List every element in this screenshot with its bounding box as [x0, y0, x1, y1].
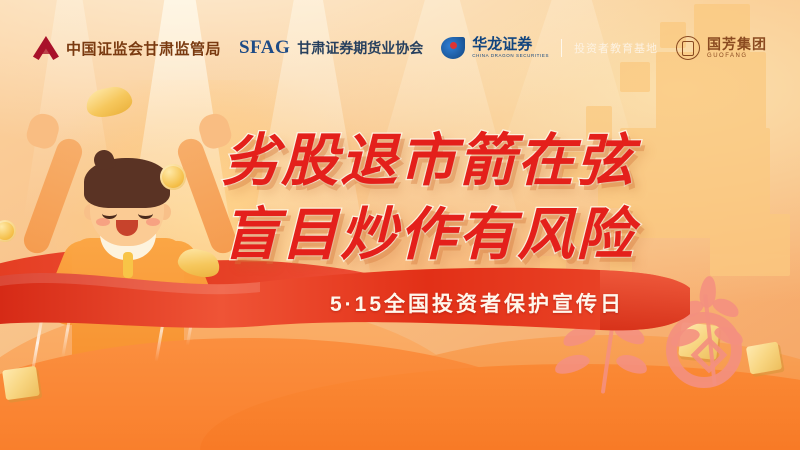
gold-coin	[160, 164, 186, 190]
ribbon-text: 5·15全国投资者保护宣传日	[330, 288, 624, 318]
logo-china-dragon-securities[interactable]: 华龙证券 CHINA DRAGON SECURITIES 投资者教育基地	[441, 37, 658, 59]
headline-block: 劣股退市箭在弦 盲目炒作有风险	[222, 124, 635, 272]
logo-csrc-gansu-label: 中国证监会甘肃监管局	[66, 38, 221, 59]
logo-guofang-label: 国芳集团	[707, 37, 767, 51]
poster-root: 中国证监会甘肃监管局 SFAG 甘肃证券期货业协会 华龙证券 CHINA DRA…	[0, 0, 800, 450]
logo-csrc-gansu[interactable]: 中国证监会甘肃监管局	[33, 36, 221, 60]
logo-divider	[561, 39, 562, 57]
logo-sfag-abbr: SFAG	[239, 37, 290, 59]
logo-guofang-label-en: GUOFANG	[707, 53, 767, 59]
character-cheek	[96, 218, 110, 226]
character-left-arm	[20, 135, 85, 257]
logo-guofang-group[interactable]: 国芳集团 GUOFANG	[676, 36, 767, 60]
logo-sfag[interactable]: SFAG 甘肃证券期货业协会	[239, 37, 423, 59]
ribbon-banner: 5·15全国投资者保护宣传日	[0, 262, 800, 334]
guofang-seal-icon	[676, 36, 700, 60]
csrc-emblem-icon	[33, 36, 59, 60]
gold-cube	[746, 341, 782, 374]
character-cheek	[146, 218, 160, 226]
sponsor-logo-bar: 中国证监会甘肃监管局 SFAG 甘肃证券期货业协会 华龙证券 CHINA DRA…	[0, 28, 800, 68]
logo-dragon-label: 华龙证券	[472, 37, 549, 52]
logo-dragon-label-en: CHINA DRAGON SECURITIES	[472, 54, 549, 59]
logo-dragon-sublabel: 投资者教育基地	[574, 40, 658, 56]
dragon-wave-icon	[441, 37, 465, 59]
leaf	[614, 351, 650, 377]
logo-sfag-label: 甘肃证券期货业协会	[297, 38, 423, 58]
leaf	[552, 351, 591, 377]
headline-line-1: 劣股退市箭在弦	[222, 124, 635, 198]
gold-cube	[2, 366, 40, 400]
